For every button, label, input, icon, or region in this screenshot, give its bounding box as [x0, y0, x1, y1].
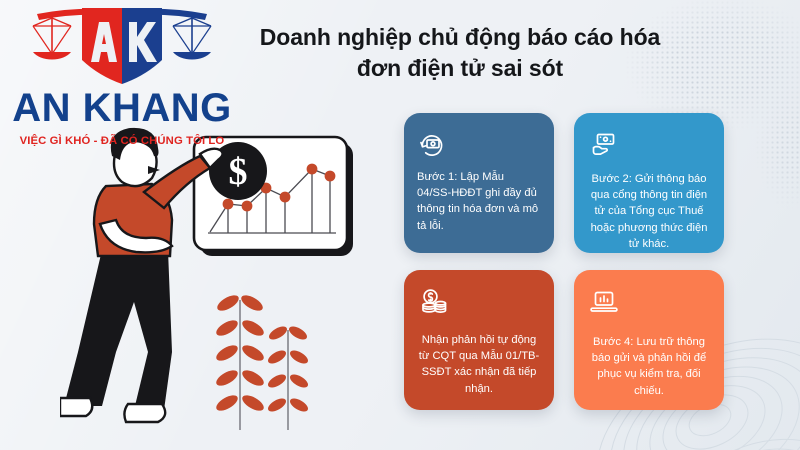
step-card-1[interactable]: Bước 1: Lập Mẫu 04/SS-HĐĐT ghi đầy đủ th…: [404, 113, 554, 253]
page-title-line-1: Doanh nghiệp chủ động báo cáo hóa: [250, 22, 670, 53]
page-title: Doanh nghiệp chủ động báo cáo hóa đơn đi…: [250, 22, 670, 84]
coin-stack-icon: [419, 286, 449, 316]
laptop-bar-chart-icon: [589, 286, 619, 316]
step-card-2[interactable]: Bước 2: Gửi thông báo qua cổng thông tin…: [574, 113, 724, 253]
money-refund-icon: [417, 129, 447, 159]
step-card-4[interactable]: Bước 4: Lưu trữ thông báo gửi và phản hồ…: [574, 270, 724, 410]
step-card-3[interactable]: Nhận phản hồi tự động từ CQT qua Mẫu 01/…: [404, 270, 554, 410]
scales-of-justice-ak-shield-icon: [27, 4, 217, 86]
page-title-line-2: đơn điện tử sai sót: [250, 53, 670, 84]
logo-tagline: VIỆC GÌ KHÓ - ĐÃ CÓ CHÚNG TÔI LO: [8, 135, 236, 147]
step-card-4-text: Bước 4: Lưu trữ thông báo gửi và phản hồ…: [587, 334, 711, 399]
step-card-2-text: Bước 2: Gửi thông báo qua cổng thông tin…: [587, 171, 711, 252]
company-logo: AN KHANG VIỆC GÌ KHÓ - ĐÃ CÓ CHÚNG TÔI L…: [8, 4, 236, 147]
logo-company-name: AN KHANG: [8, 88, 236, 128]
woman-presenting-growth-chart-illustration: $: [60, 120, 380, 440]
hand-holding-money-icon: [589, 129, 619, 159]
step-card-3-text: Nhận phản hồi tự động từ CQT qua Mẫu 01/…: [417, 332, 541, 397]
svg-text:$: $: [229, 151, 248, 193]
step-card-1-text: Bước 1: Lập Mẫu 04/SS-HĐĐT ghi đầy đủ th…: [417, 169, 541, 234]
steps-card-grid: Bước 1: Lập Mẫu 04/SS-HĐĐT ghi đầy đủ th…: [404, 113, 740, 418]
